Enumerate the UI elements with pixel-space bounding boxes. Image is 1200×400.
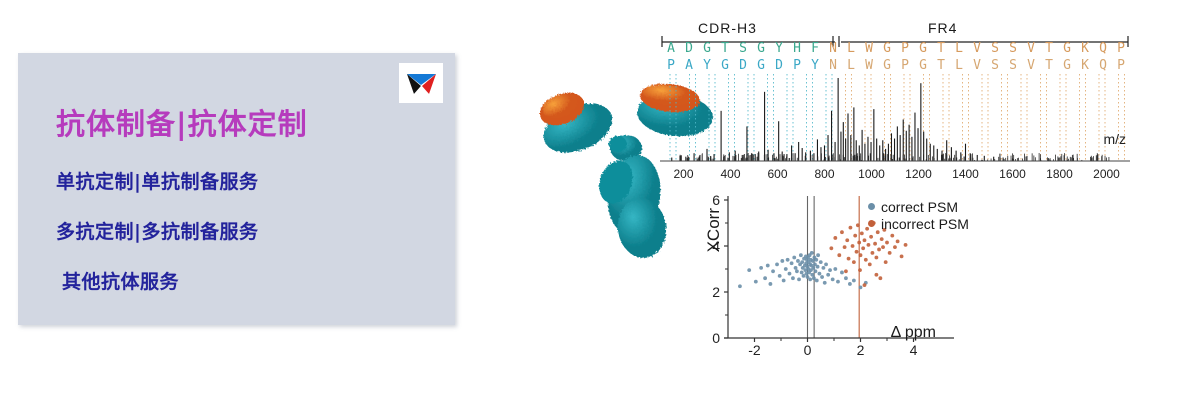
sequence-residue: W <box>860 57 878 74</box>
spectrum-x-tick-labels: 200400600800100012001400160018002000 <box>660 167 1130 183</box>
scatter-axis-label-xcorr: XCorr <box>704 208 724 252</box>
promo-link-other-services[interactable]: 其他抗体服务 <box>62 267 179 294</box>
scatter-legend: correct PSM incorrect PSM <box>868 198 969 232</box>
sequence-residue: G <box>878 40 896 57</box>
sequence-residue: P <box>662 57 680 74</box>
sequence-residue: Y <box>698 57 716 74</box>
sequence-residue: T <box>1040 40 1058 57</box>
legend-dot-icon <box>868 203 875 210</box>
spectrum-tick-label: 800 <box>814 167 834 181</box>
sequence-residue: S <box>986 57 1004 74</box>
svg-text:2: 2 <box>857 342 865 358</box>
sequence-residue: G <box>914 57 932 74</box>
sequence-alignment: ADGTSGYHFNLWGPGTLVSSVTGKQP PAYGDGDPYNLWG… <box>662 40 1130 74</box>
sequence-residue: T <box>716 40 734 57</box>
svg-text:0: 0 <box>712 330 720 346</box>
sequence-row-bottom: PAYGDGDPYNLWGPGTLVSSVTGKQP <box>662 57 1130 74</box>
svg-text:4: 4 <box>910 342 918 358</box>
sequence-residue: P <box>896 40 914 57</box>
sequence-residue: S <box>986 40 1004 57</box>
sequence-residue: W <box>860 40 878 57</box>
sequence-residue: P <box>896 57 914 74</box>
sequence-residue: D <box>680 40 698 57</box>
sequence-residue: G <box>716 57 734 74</box>
sequence-row-top: ADGTSGYHFNLWGPGTLVSSVTGKQP <box>662 40 1130 57</box>
sequence-residue: G <box>1058 40 1076 57</box>
spectrum-tick-label: 2000 <box>1093 167 1120 181</box>
sequence-residue: K <box>1076 57 1094 74</box>
sequence-residue: P <box>1112 57 1130 74</box>
sequence-residue: Y <box>770 40 788 57</box>
spectrum-axis-label-mz: m/z <box>1103 131 1126 147</box>
sequence-residue: K <box>1076 40 1094 57</box>
sequence-residue: Y <box>806 57 824 74</box>
sequence-residue: P <box>788 57 806 74</box>
sequence-residue: V <box>1022 40 1040 57</box>
promo-panel: 抗体制备|抗体定制 单抗定制|单抗制备服务 多抗定制|多抗制备服务 其他抗体服务 <box>18 53 455 325</box>
sequence-residue: D <box>734 57 752 74</box>
sequence-residue: G <box>752 57 770 74</box>
sequence-residue: A <box>680 57 698 74</box>
legend-label: correct PSM <box>881 199 958 215</box>
sequence-residue: V <box>1022 57 1040 74</box>
sequence-residue: G <box>878 57 896 74</box>
sequence-residue: Q <box>1094 40 1112 57</box>
promo-link-monoclonal[interactable]: 单抗定制|单抗制备服务 <box>56 167 258 194</box>
sequence-residue: Q <box>1094 57 1112 74</box>
scatter-axis-label-ppm: Δ ppm <box>891 324 936 342</box>
sequence-residue: T <box>932 40 950 57</box>
spectrum-tick-label: 1600 <box>999 167 1026 181</box>
promo-link-polyclonal[interactable]: 多抗定制|多抗制备服务 <box>56 217 258 244</box>
sequence-residue: S <box>734 40 752 57</box>
sequence-residue: H <box>788 40 806 57</box>
sequence-residue: L <box>950 57 968 74</box>
sequence-residue: P <box>1112 40 1130 57</box>
spectrum-tick-label: 400 <box>720 167 740 181</box>
sequence-residue: S <box>1004 40 1022 57</box>
sequence-residue: G <box>914 40 932 57</box>
company-logo <box>399 63 443 103</box>
legend-dot-icon <box>868 220 875 227</box>
domain-label-fr4: FR4 <box>928 20 957 36</box>
sequence-residue: V <box>968 57 986 74</box>
sequence-residue: L <box>842 57 860 74</box>
legend-label: incorrect PSM <box>881 216 969 232</box>
sequence-residue: N <box>824 57 842 74</box>
svg-text:2: 2 <box>712 284 720 300</box>
domain-label-cdr-h3: CDR-H3 <box>698 20 757 36</box>
sequence-residue: S <box>1004 57 1022 74</box>
mass-spectrum-chart: m/z <box>660 74 1130 169</box>
logo-chevron-icon <box>399 63 443 103</box>
scatter-plot-chart: 0246-2024 XCorr Δ ppm correct PSM incorr… <box>688 190 958 370</box>
sequence-residue: D <box>770 57 788 74</box>
spectrum-tick-label: 600 <box>767 167 787 181</box>
scientific-figure: CDR-H3 FR4 ADGTSGYHFNLWGPGTLVSSVTGKQP PA… <box>520 0 1200 400</box>
sequence-residue: L <box>842 40 860 57</box>
svg-text:6: 6 <box>712 192 720 208</box>
svg-text:-2: -2 <box>748 342 761 358</box>
spectrum-tick-label: 1200 <box>905 167 932 181</box>
sequence-residue: A <box>662 40 680 57</box>
sequence-residue: N <box>824 40 842 57</box>
spectrum-tick-label: 200 <box>673 167 693 181</box>
sequence-residue: L <box>950 40 968 57</box>
sequence-residue: G <box>752 40 770 57</box>
sequence-residue: F <box>806 40 824 57</box>
spectrum-tick-label: 1000 <box>858 167 885 181</box>
sequence-residue: T <box>932 57 950 74</box>
sequence-residue: T <box>1040 57 1058 74</box>
sequence-residue: V <box>968 40 986 57</box>
sequence-residue: G <box>1058 57 1076 74</box>
spectrum-tick-label: 1400 <box>952 167 979 181</box>
legend-item-correct-psm: correct PSM <box>868 198 969 215</box>
legend-item-incorrect-psm: incorrect PSM <box>868 215 969 232</box>
spectrum-tick-label: 1800 <box>1046 167 1073 181</box>
page-title: 抗体制备|抗体定制 <box>56 101 308 143</box>
svg-text:0: 0 <box>804 342 812 358</box>
sequence-residue: G <box>698 40 716 57</box>
